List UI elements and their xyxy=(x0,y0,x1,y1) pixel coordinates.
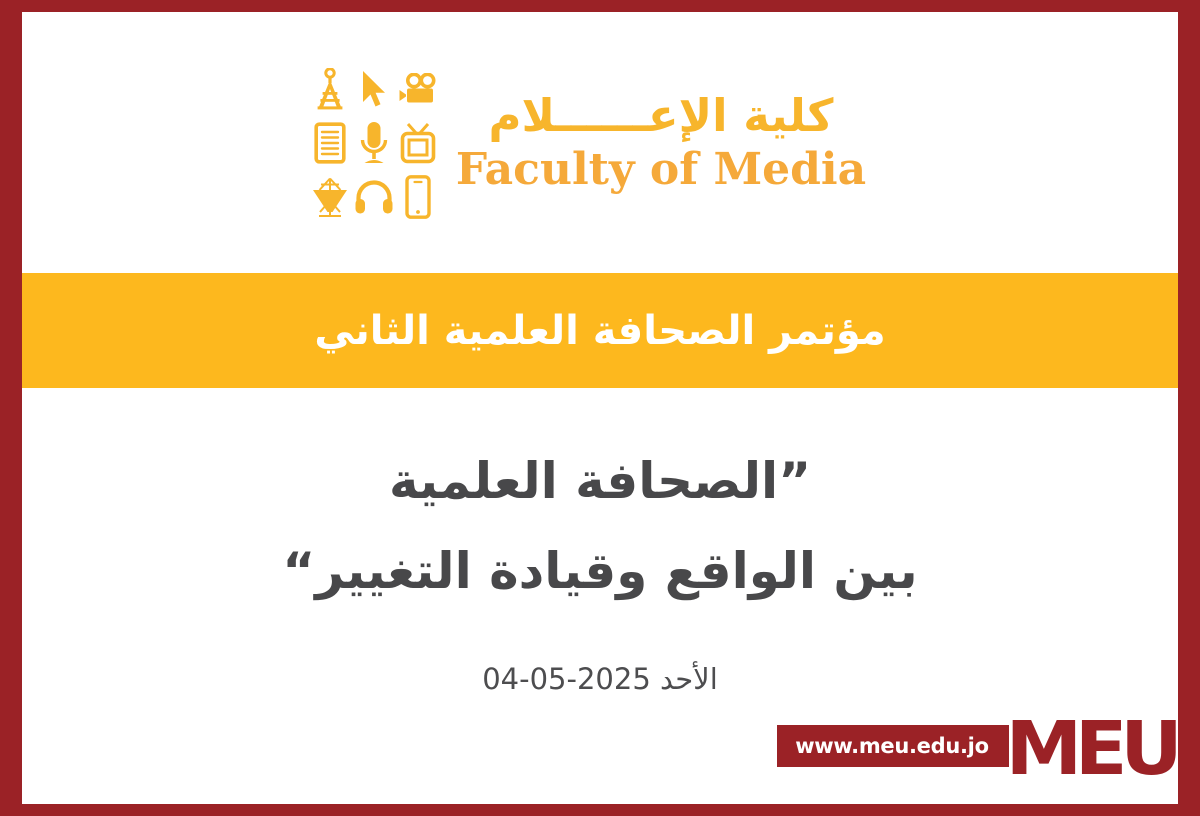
poster-title-line-1: ”الصحافة العلمية xyxy=(389,450,811,513)
poster-title-block: ”الصحافة العلمية بين الواقع وقيادة التغي… xyxy=(22,388,1178,664)
poster-title-line-2: بين الواقع وقيادة التغيير“ xyxy=(282,540,917,603)
meu-website-bar[interactable]: www.meu.edu.jo xyxy=(777,725,1009,767)
conference-name-band: مؤتمر الصحافة العلمية الثاني xyxy=(22,273,1178,388)
video-camera-icon xyxy=(398,64,438,114)
cursor-arrow-icon xyxy=(354,64,394,114)
faculty-name-arabic: كلية الإعــــــلام xyxy=(456,93,866,138)
faculty-logo-text: كلية الإعــــــلام Faculty of Media xyxy=(456,93,866,192)
smartphone-icon xyxy=(398,172,438,222)
event-date: الأحد 2025-05-04 xyxy=(482,662,718,696)
frame-border-right xyxy=(1178,0,1200,816)
frame-border-top xyxy=(0,0,1200,12)
event-date-block: الأحد 2025-05-04 xyxy=(22,662,1178,696)
meu-brand-footer: MEU www.meu.edu.jo xyxy=(777,717,1178,782)
conference-name: مؤتمر الصحافة العلمية الثاني xyxy=(314,308,885,354)
faculty-name-english: Faculty of Media xyxy=(456,148,866,192)
faculty-logo-header: كلية الإعــــــلام Faculty of Media xyxy=(22,12,1178,273)
frame-border-bottom xyxy=(0,804,1200,816)
radio-tower-icon xyxy=(310,64,350,114)
media-icon-grid xyxy=(310,64,438,222)
poster-content: كلية الإعــــــلام Faculty of Media مؤتم… xyxy=(22,12,1178,804)
frame-border-left xyxy=(0,0,22,816)
conference-poster: كلية الإعــــــلام Faculty of Media مؤتم… xyxy=(0,0,1200,816)
television-icon xyxy=(398,118,438,168)
newspaper-icon xyxy=(310,118,350,168)
microphone-icon xyxy=(354,118,394,168)
meu-logo-mark: MEU xyxy=(1005,717,1181,782)
meu-website-url[interactable]: www.meu.edu.jo xyxy=(795,734,989,758)
headphones-icon xyxy=(354,172,394,222)
faculty-logo-lockup: كلية الإعــــــلام Faculty of Media xyxy=(310,64,866,222)
satellite-dish-icon xyxy=(310,172,350,222)
